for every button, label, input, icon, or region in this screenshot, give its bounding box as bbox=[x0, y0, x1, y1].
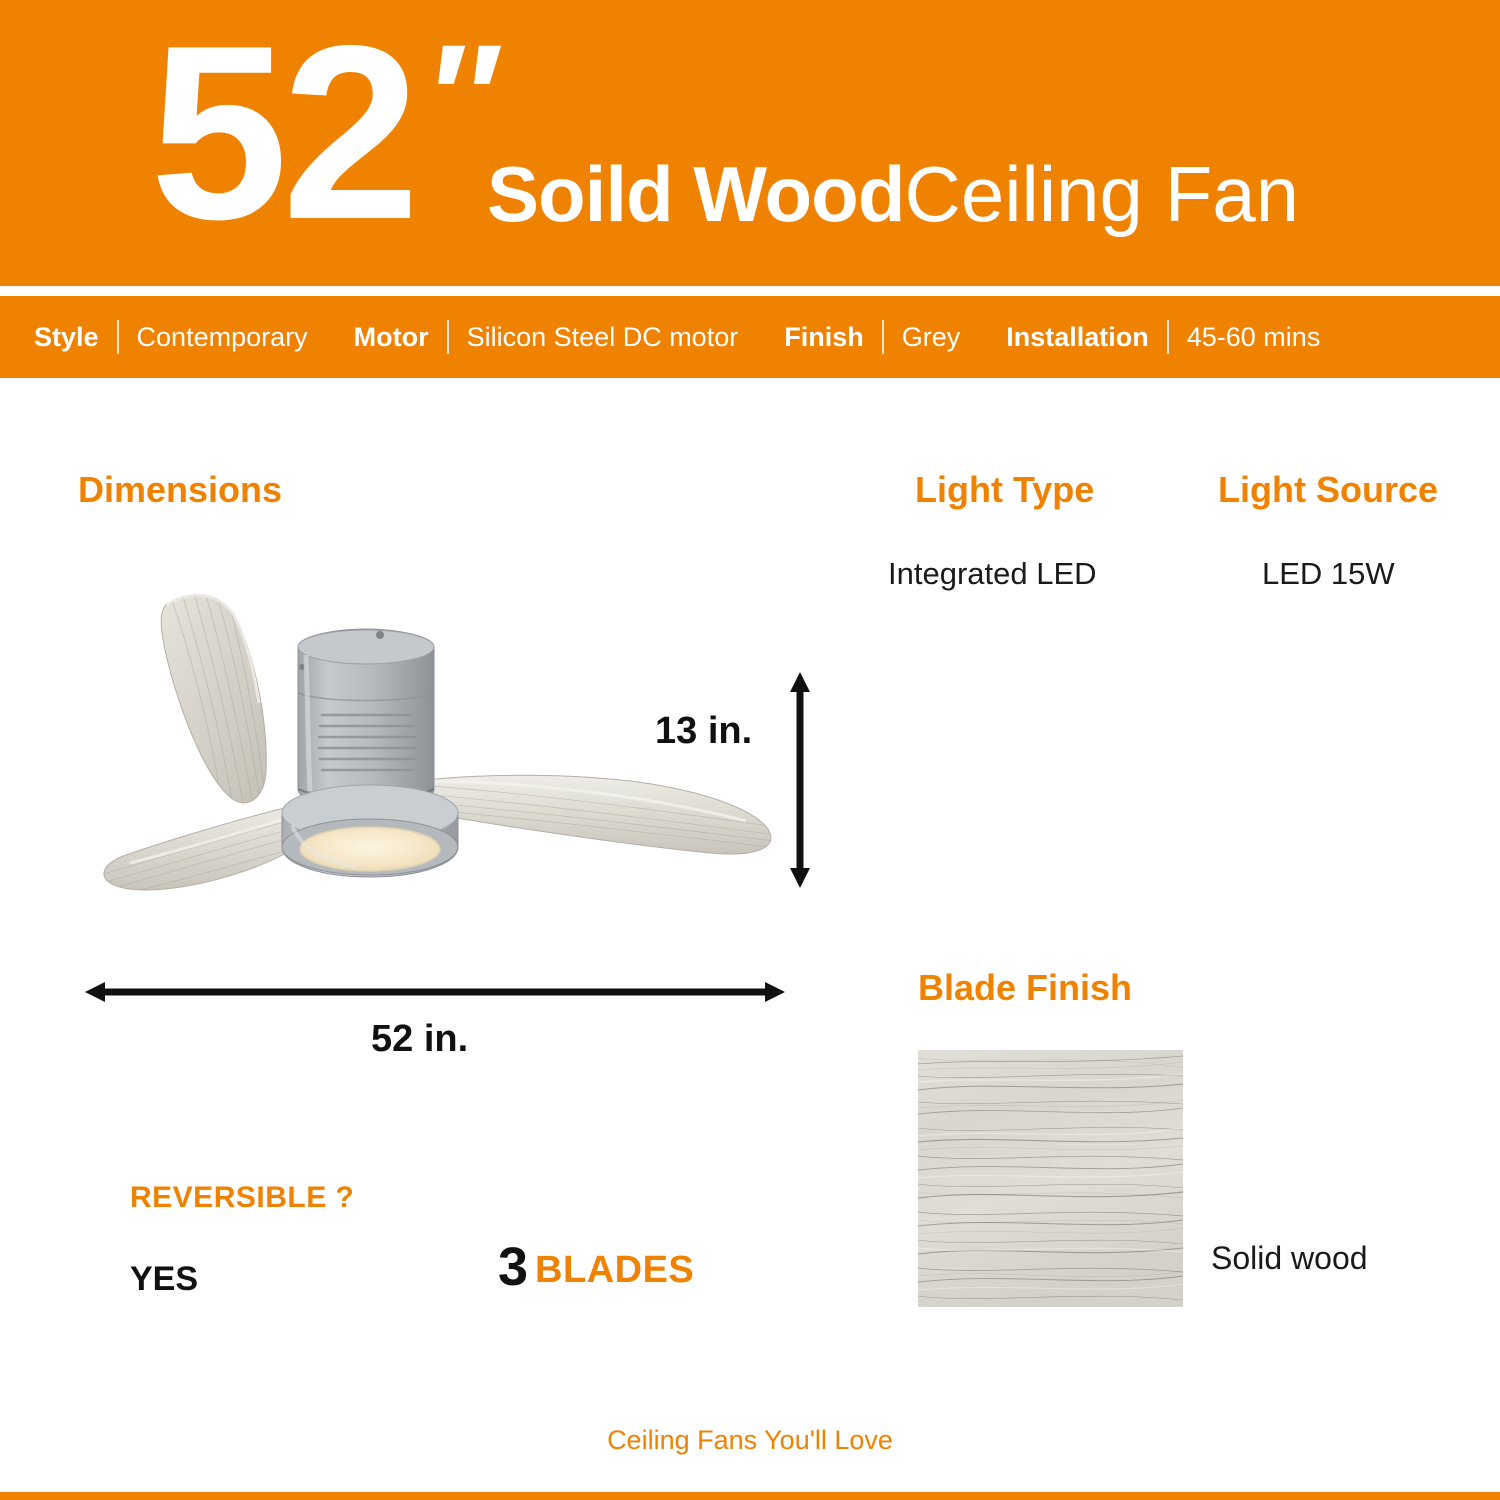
footer-tagline: Ceiling Fans You'll Love bbox=[0, 1425, 1500, 1456]
blade-count-label: BLADES bbox=[535, 1249, 694, 1291]
spec-key-style: Style bbox=[34, 322, 99, 353]
product-infographic-page: 52 ″ Soild WoodCeiling Fan Style Contemp… bbox=[0, 0, 1500, 1500]
reversible-heading: REVERSIBLE ? bbox=[130, 1183, 354, 1213]
blade-finish-swatch bbox=[918, 1050, 1183, 1307]
light-source-heading: Light Source bbox=[1218, 472, 1438, 508]
fan-motor-housing bbox=[298, 629, 434, 809]
spec-divider bbox=[117, 320, 119, 354]
spec-item-finish: Finish Grey bbox=[784, 320, 960, 354]
spec-value-installation: 45-60 mins bbox=[1187, 322, 1321, 353]
spec-item-style: Style Contemporary bbox=[34, 320, 308, 354]
specification-bar: Style Contemporary Motor Silicon Steel D… bbox=[0, 296, 1500, 378]
hero-subtitle: Soild WoodCeiling Fan bbox=[487, 155, 1299, 233]
blade-finish-material: Solid wood bbox=[1211, 1242, 1368, 1274]
spec-value-finish: Grey bbox=[902, 322, 961, 353]
reversible-value: YES bbox=[130, 1262, 198, 1296]
fan-blade-upper-left bbox=[161, 593, 267, 813]
blade-count-group: 3BLADES bbox=[498, 1240, 694, 1294]
ceiling-fan-illustration bbox=[70, 575, 800, 935]
double-arrow-vertical-icon bbox=[780, 672, 820, 888]
spec-key-finish: Finish bbox=[784, 322, 864, 353]
dimensions-heading: Dimensions bbox=[78, 472, 282, 508]
header-banner: 52 ″ Soild WoodCeiling Fan bbox=[0, 0, 1500, 286]
spec-item-motor: Motor Silicon Steel DC motor bbox=[354, 320, 739, 354]
light-type-heading: Light Type bbox=[915, 472, 1094, 508]
light-type-value: Integrated LED bbox=[888, 558, 1097, 589]
spec-value-motor: Silicon Steel DC motor bbox=[467, 322, 739, 353]
light-source-value: LED 15W bbox=[1262, 558, 1395, 589]
footer-divider bbox=[0, 1492, 1500, 1500]
width-dimension-label: 52 in. bbox=[371, 1020, 468, 1058]
double-arrow-horizontal-icon bbox=[85, 972, 785, 1012]
hero-subtitle-light: Ceiling Fan bbox=[904, 150, 1299, 238]
led-light-lens bbox=[300, 827, 440, 871]
spec-key-installation: Installation bbox=[1006, 322, 1149, 353]
spec-divider bbox=[1167, 320, 1169, 354]
spec-value-style: Contemporary bbox=[137, 322, 308, 353]
hero-size-number: 52 bbox=[150, 8, 414, 256]
spec-item-installation: Installation 45-60 mins bbox=[1006, 320, 1320, 354]
hero-subtitle-bold: Soild Wood bbox=[487, 150, 904, 238]
blade-count-number: 3 bbox=[498, 1237, 528, 1297]
fan-light-housing bbox=[282, 785, 458, 877]
blade-finish-heading: Blade Finish bbox=[918, 970, 1132, 1006]
spec-key-motor: Motor bbox=[354, 322, 429, 353]
spec-divider bbox=[882, 320, 884, 354]
height-dimension-label: 13 in. bbox=[655, 712, 752, 750]
spec-divider bbox=[447, 320, 449, 354]
